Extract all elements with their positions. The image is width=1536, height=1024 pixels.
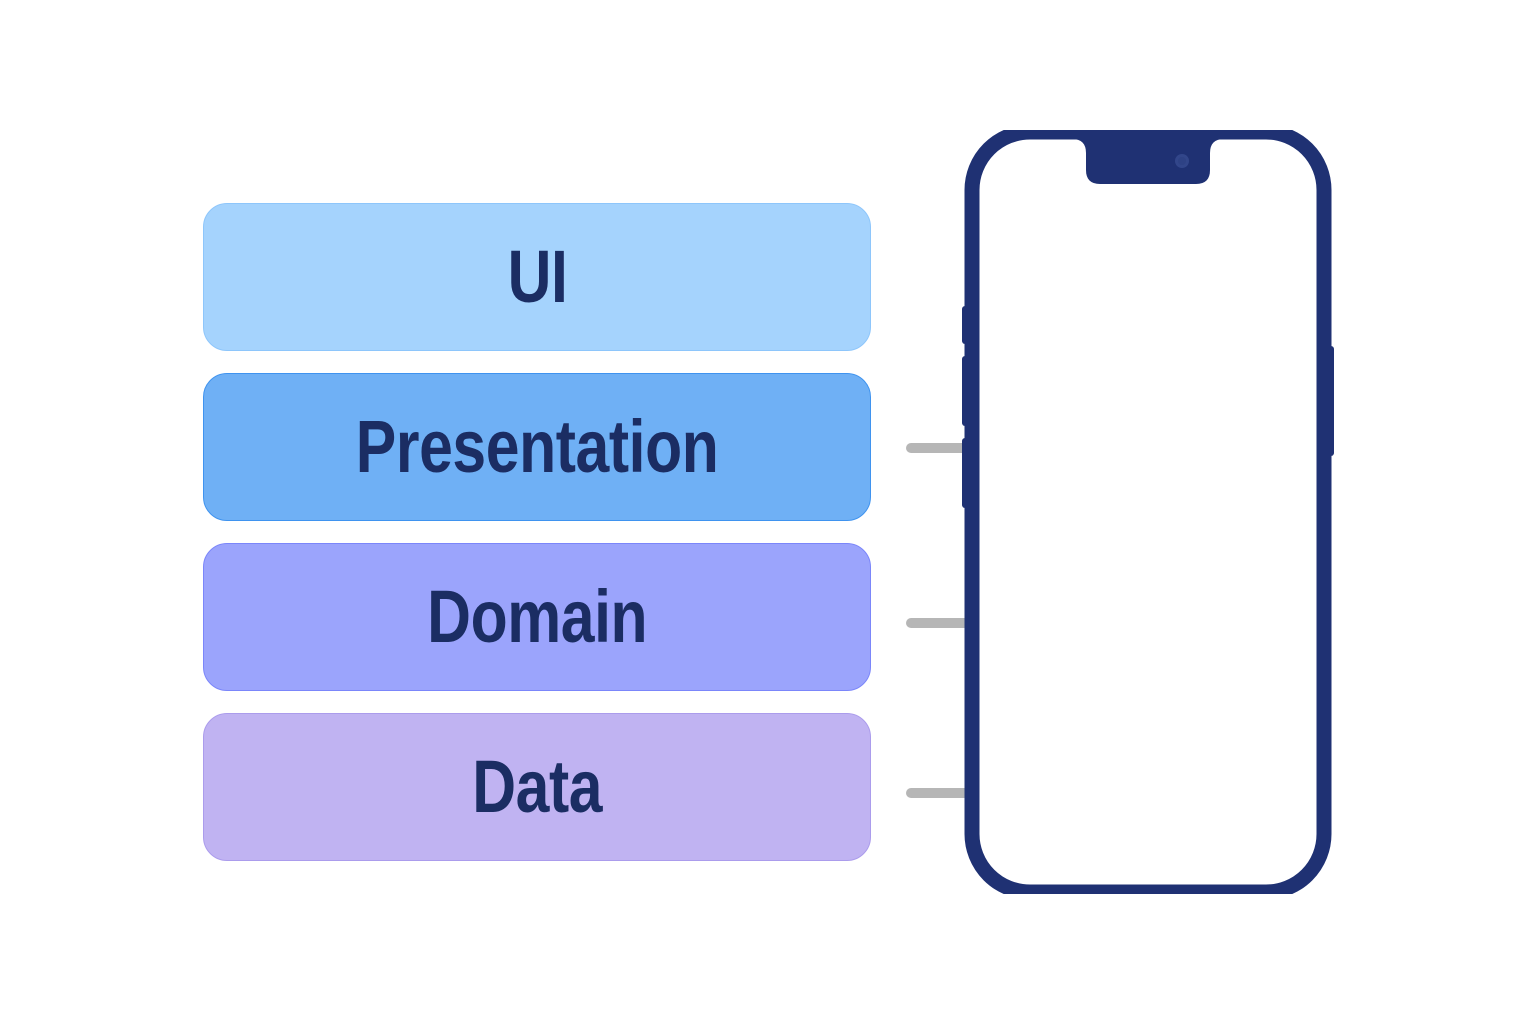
layer-bar-presentation[interactable]: Presentation (203, 373, 871, 521)
layer-label-presentation: Presentation (356, 410, 719, 484)
layer-label-domain: Domain (427, 580, 647, 654)
smartphone-mockup (962, 130, 1334, 894)
layer-bar-domain[interactable]: Domain (203, 543, 871, 691)
layer-stack: UI Presentation Domain Data (203, 203, 871, 861)
layer-bar-data[interactable]: Data (203, 713, 871, 861)
layer-label-ui: UI (507, 240, 567, 314)
diagram-canvas: UI Presentation Domain Data (0, 0, 1536, 1024)
layer-label-data: Data (472, 750, 602, 824)
layer-bar-ui[interactable]: UI (203, 203, 871, 351)
